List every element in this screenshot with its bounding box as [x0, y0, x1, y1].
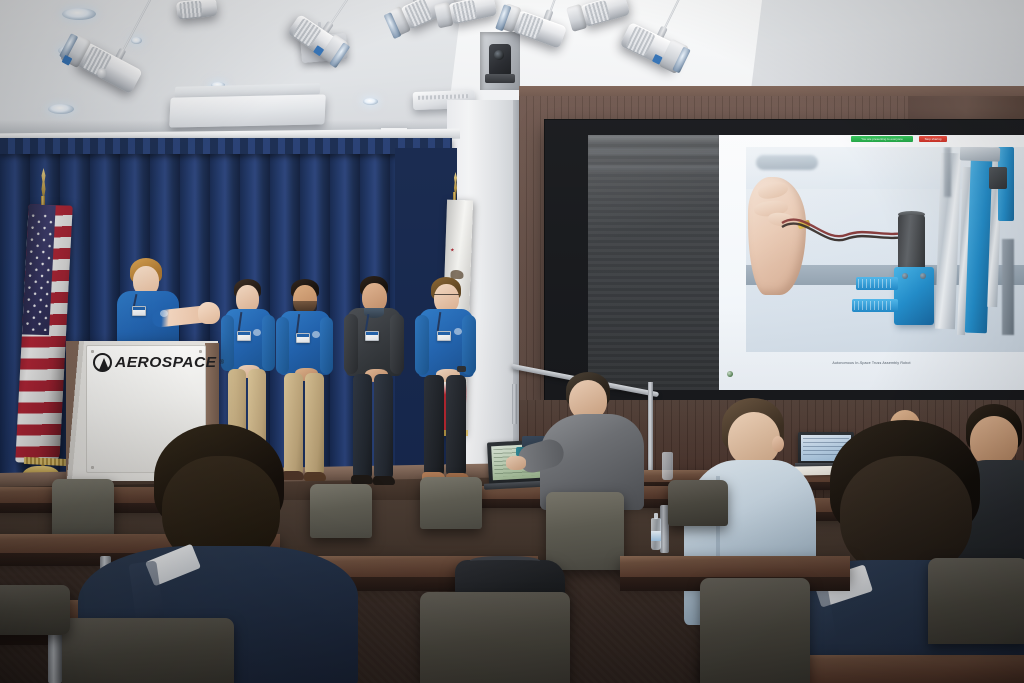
- screen-reflection: [588, 135, 719, 215]
- name-badge: [132, 306, 146, 316]
- presenting-status-badge[interactable]: You are presenting to everyone: [851, 136, 913, 142]
- stop-sharing-button[interactable]: Stop sharing: [919, 136, 947, 142]
- recessed-downlight-icon: [363, 98, 378, 105]
- curtain-valance: [0, 138, 452, 154]
- slide-caption: Autonomous In-Space Truss Assembly Robot: [719, 361, 1024, 365]
- polo-chest-logo-icon: [253, 329, 261, 336]
- arm-left: [415, 315, 429, 375]
- recessed-downlight-icon: [62, 8, 96, 20]
- ceiling-speaker-bar: [169, 94, 326, 127]
- aerospace-delta-logo-icon: [93, 353, 112, 372]
- podium-brand-label: AEROSPACE: [115, 354, 216, 371]
- upholstered-chair: [668, 480, 728, 526]
- handrail-post: [512, 384, 517, 424]
- upholstered-chair: [700, 578, 810, 683]
- bottle-label: [651, 531, 661, 541]
- handrail-post: [648, 382, 653, 470]
- ptz-camera-lens: [494, 50, 504, 60]
- bottle-small: [662, 452, 673, 480]
- presentation-scene: AEROSPACE ® You are presenting to everyo…: [0, 0, 1024, 683]
- recording-indicator-icon: [727, 371, 733, 377]
- upholstered-chair: [928, 558, 1024, 644]
- upholstered-chair: [420, 592, 570, 683]
- wristwatch-icon: [457, 366, 466, 372]
- arm-right: [320, 317, 333, 374]
- polo-chest-logo-icon: [454, 328, 462, 335]
- polo-chest-logo-icon: [312, 331, 320, 338]
- presenter-team-member-5: [417, 277, 481, 482]
- water-bottle: [651, 518, 661, 550]
- name-badge: [437, 331, 451, 341]
- ptz-camera-base: [485, 74, 515, 83]
- upholstered-chair: [420, 477, 482, 529]
- upholstered-chair: [546, 492, 624, 570]
- upholstered-chair: [0, 585, 70, 635]
- podium-brand-trademark: ®: [220, 360, 224, 366]
- eyeglasses-icon: [434, 294, 459, 298]
- attendee-gray-sweater-laptop: [540, 372, 648, 512]
- photo-soft-glare: [746, 147, 1024, 352]
- slide-photo: [746, 147, 1024, 352]
- backpack-strap: [470, 556, 540, 566]
- presentation-display[interactable]: You are presenting to everyone Stop shar…: [588, 135, 1024, 390]
- ptz-camera-icon: [489, 44, 511, 76]
- arm-left: [276, 317, 289, 374]
- hand-on-keyboard: [506, 456, 526, 470]
- upholstered-chair: [52, 479, 114, 537]
- leg-dark-jeans-right: [374, 374, 393, 480]
- panel-fastener: [91, 466, 94, 469]
- arm-left: [344, 314, 358, 374]
- table-leg: [48, 630, 62, 683]
- name-badge: [365, 331, 379, 341]
- slide-canvas: You are presenting to everyone Stop shar…: [719, 135, 1024, 390]
- arm-right: [262, 315, 275, 371]
- leg-dark-pants-left: [424, 375, 444, 477]
- recessed-downlight-icon: [48, 104, 74, 114]
- recessed-downlight-icon: [131, 37, 142, 44]
- leg-dark-pants-right: [446, 375, 466, 477]
- upholstered-chair: [62, 618, 234, 683]
- name-badge: [296, 333, 310, 343]
- hand-right: [198, 302, 220, 324]
- podium-brand-lockup: AEROSPACE ®: [93, 353, 224, 372]
- arm-right: [390, 314, 404, 374]
- shoe-right: [373, 476, 395, 485]
- name-badge: [237, 331, 251, 341]
- screen-letterbox-left: [588, 135, 719, 390]
- polo-chest-logo-icon: [160, 310, 168, 317]
